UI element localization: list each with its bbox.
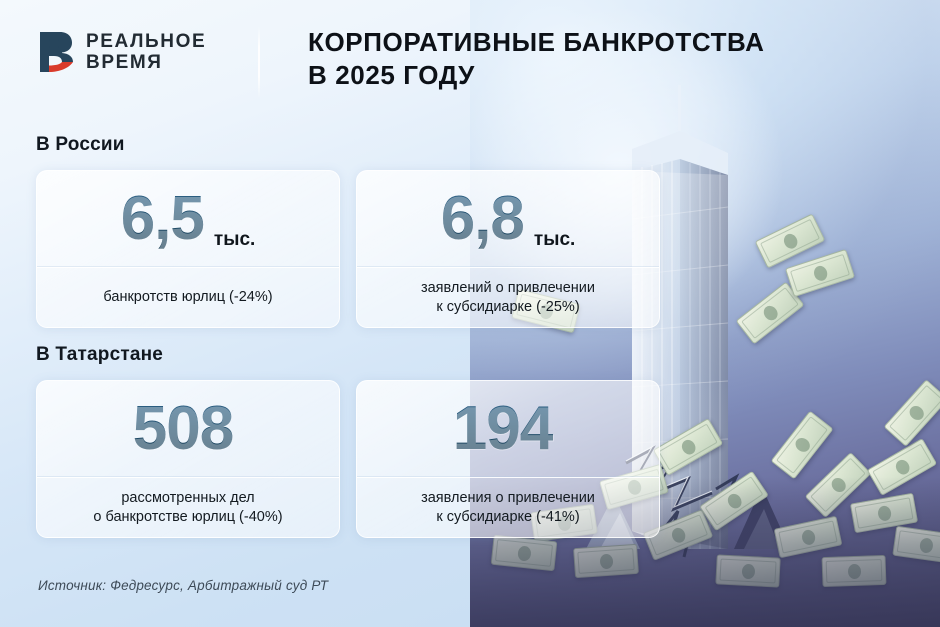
stat-caption-line2: к субсидиарке (-25%) [436, 299, 579, 315]
stat-card-tatarstan-subsidiary-claims: 194 заявления о привлечении к субсидиарк… [356, 380, 660, 538]
stat-caption-line1: заявления о привлечении [421, 490, 595, 506]
brand-name-line1: РЕАЛЬНОЕ [86, 31, 206, 52]
stat-unit: тыс. [214, 229, 255, 267]
stat-value-row: 6,8 тыс. [357, 171, 659, 267]
brand-logo[interactable]: РЕАЛЬНОЕ ВРЕМЯ [36, 30, 206, 74]
dollar-bill-icon [850, 493, 918, 534]
brand-name-line2: ВРЕМЯ [86, 52, 206, 73]
realnoe-vremya-logo-icon [36, 30, 76, 74]
dollar-bill-icon [736, 281, 805, 344]
brand-name: РЕАЛЬНОЕ ВРЕМЯ [86, 31, 206, 73]
dollar-bill-icon [699, 471, 769, 532]
stat-unit: тыс. [534, 229, 575, 267]
stat-card-russia-subsidiary-claims: 6,8 тыс. заявлений о привлечении к субси… [356, 170, 660, 328]
stat-value: 6,8 [441, 188, 524, 250]
stat-value: 6,5 [121, 188, 204, 250]
stat-value-row: 194 [357, 381, 659, 477]
stat-value: 194 [453, 398, 553, 460]
page-title-line1: КОРПОРАТИВНЫЕ БАНКРОТСТВА [308, 26, 765, 59]
dollar-bill-icon [892, 526, 940, 565]
stat-card-russia-bankruptcies: 6,5 тыс. банкротств юрлиц (-24%) [36, 170, 340, 328]
page-title-line2: В 2025 ГОДУ [308, 59, 765, 92]
dollar-bill-icon [821, 555, 886, 587]
section-label-tatarstan: В Татарстане [36, 344, 163, 366]
section-label-russia: В России [36, 134, 125, 156]
dollar-bill-icon [715, 554, 780, 587]
stat-caption-line2: о банкротстве юрлиц (-40%) [93, 509, 282, 525]
stat-value: 508 [133, 398, 233, 460]
stat-caption: заявления о привлечении к субсидиарке (-… [357, 478, 659, 537]
dollar-bill-icon [755, 213, 826, 268]
dollar-bill-icon [491, 535, 558, 572]
page-title: КОРПОРАТИВНЫЕ БАНКРОТСТВА В 2025 ГОДУ [308, 26, 765, 92]
header: РЕАЛЬНОЕ ВРЕМЯ КОРПОРАТИВНЫЕ БАНКРОТСТВА… [36, 24, 940, 100]
stat-caption: рассмотренных дел о банкротстве юрлиц (-… [37, 478, 339, 537]
stat-caption-line1: заявлений о привлечении [421, 280, 595, 296]
stat-caption: банкротств юрлиц (-24%) [37, 268, 339, 327]
source-note: Источник: Федресурс, Арбитражный суд РТ [38, 578, 328, 593]
dollar-bill-icon [770, 411, 833, 480]
stat-value-row: 508 [37, 381, 339, 477]
dollar-bill-icon [653, 418, 723, 476]
dollar-bill-icon [805, 452, 872, 518]
stat-caption-line1: рассмотренных дел [121, 490, 254, 506]
dollar-bill-icon [774, 516, 843, 559]
stat-caption-line2: к субсидиарке (-41%) [436, 509, 579, 525]
stat-caption: заявлений о привлечении к субсидиарке (-… [357, 268, 659, 327]
dollar-bill-icon [573, 544, 639, 578]
header-divider [258, 26, 260, 98]
stat-card-tatarstan-cases: 508 рассмотренных дел о банкротстве юрли… [36, 380, 340, 538]
dollar-bill-icon [867, 438, 937, 496]
dollar-bill-icon [883, 379, 940, 447]
stat-caption-line1: банкротств юрлиц (-24%) [103, 289, 272, 305]
stat-value-row: 6,5 тыс. [37, 171, 339, 267]
infographic-canvas: РЕАЛЬНОЕ ВРЕМЯ КОРПОРАТИВНЫЕ БАНКРОТСТВА… [0, 0, 940, 627]
dollar-bill-icon [785, 249, 855, 297]
